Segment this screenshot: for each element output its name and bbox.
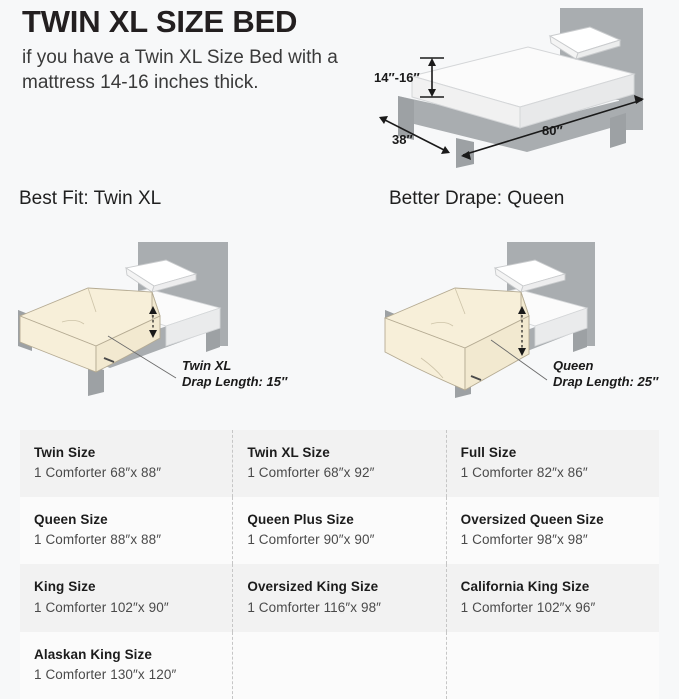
cell-sub: 1 Comforter 82″x 86″ xyxy=(461,463,659,484)
cell-sub: 1 Comforter 98″x 98″ xyxy=(461,530,659,551)
table-row: King Size 1 Comforter 102″x 90″ Oversize… xyxy=(20,564,659,631)
hero-text-block: TWIN XL SIZE BED if you have a Twin XL S… xyxy=(22,6,352,95)
cell-title: California King Size xyxy=(461,577,659,597)
comforter-size-table: Twin Size 1 Comforter 68″x 88″ Twin XL S… xyxy=(20,430,659,699)
panel-best-fit-twin-xl: Best Fit: Twin XL xyxy=(0,182,340,414)
left-callout-line2: Drap Length: 15″ xyxy=(182,374,288,389)
cell-title: Twin Size xyxy=(34,443,232,463)
cell-sub: 1 Comforter 90″x 90″ xyxy=(247,530,445,551)
table-cell xyxy=(446,632,659,699)
table-cell: Queen Size 1 Comforter 88″x 88″ xyxy=(20,497,233,564)
table-cell: California King Size 1 Comforter 102″x 9… xyxy=(446,564,659,631)
table-cell: Oversized Queen Size 1 Comforter 98″x 98… xyxy=(446,497,659,564)
page-title: TWIN XL SIZE BED xyxy=(22,6,352,39)
cell-title: Queen Plus Size xyxy=(247,510,445,530)
table-row: Queen Size 1 Comforter 88″x 88″ Queen Pl… xyxy=(20,497,659,564)
cell-sub: 1 Comforter 68″x 92″ xyxy=(247,463,445,484)
cell-title: Queen Size xyxy=(34,510,232,530)
left-callout-line1: Twin XL xyxy=(182,358,231,373)
cell-title: Oversized Queen Size xyxy=(461,510,659,530)
table-cell: Twin Size 1 Comforter 68″x 88″ xyxy=(20,430,233,497)
cell-title: Twin XL Size xyxy=(247,443,445,463)
right-callout-line2: Drap Length: 25″ xyxy=(553,374,659,389)
table-cell: King Size 1 Comforter 102″x 90″ xyxy=(20,564,233,631)
table-row: Twin Size 1 Comforter 68″x 88″ Twin XL S… xyxy=(20,430,659,497)
cell-sub: 1 Comforter 88″x 88″ xyxy=(34,530,232,551)
table-cell xyxy=(233,632,446,699)
hero-length-label: 80″ xyxy=(542,123,563,138)
size-table-body: Twin Size 1 Comforter 68″x 88″ Twin XL S… xyxy=(20,430,659,699)
cell-title: King Size xyxy=(34,577,232,597)
table-cell: Twin XL Size 1 Comforter 68″x 92″ xyxy=(233,430,446,497)
cell-sub: 1 Comforter 130″x 120″ xyxy=(34,665,232,686)
hero-width-label: 38″ xyxy=(392,132,413,147)
table-row: Alaskan King Size 1 Comforter 130″x 120″ xyxy=(20,632,659,699)
table-cell: Full Size 1 Comforter 82″x 86″ xyxy=(446,430,659,497)
cell-sub: 1 Comforter 116″x 98″ xyxy=(247,598,445,619)
table-cell: Oversized King Size 1 Comforter 116″x 98… xyxy=(233,564,446,631)
panel-better-drape-queen: Better Drape: Queen xyxy=(339,182,679,414)
hero-bed-diagram: 14″-16″ 38″ 80″ xyxy=(352,0,679,182)
table-cell: Queen Plus Size 1 Comforter 90″x 90″ xyxy=(233,497,446,564)
right-callout-line1: Queen xyxy=(553,358,594,373)
cell-sub: 1 Comforter 102″x 96″ xyxy=(461,598,659,619)
hero-section: TWIN XL SIZE BED if you have a Twin XL S… xyxy=(0,0,679,182)
cell-title: Full Size xyxy=(461,443,659,463)
cell-title: Alaskan King Size xyxy=(34,645,232,665)
right-bed-illustration: Queen Drap Length: 25″ xyxy=(339,206,679,414)
left-bed-illustration: Twin XL Drap Length: 15″ xyxy=(0,206,340,414)
page-subtitle: if you have a Twin XL Size Bed with a ma… xyxy=(22,45,352,95)
cell-sub: 1 Comforter 68″x 88″ xyxy=(34,463,232,484)
table-cell: Alaskan King Size 1 Comforter 130″x 120″ xyxy=(20,632,233,699)
cell-title: Oversized King Size xyxy=(247,577,445,597)
hero-height-label: 14″-16″ xyxy=(374,70,420,85)
comparison-section: Best Fit: Twin XL xyxy=(0,182,679,414)
cell-sub: 1 Comforter 102″x 90″ xyxy=(34,598,232,619)
